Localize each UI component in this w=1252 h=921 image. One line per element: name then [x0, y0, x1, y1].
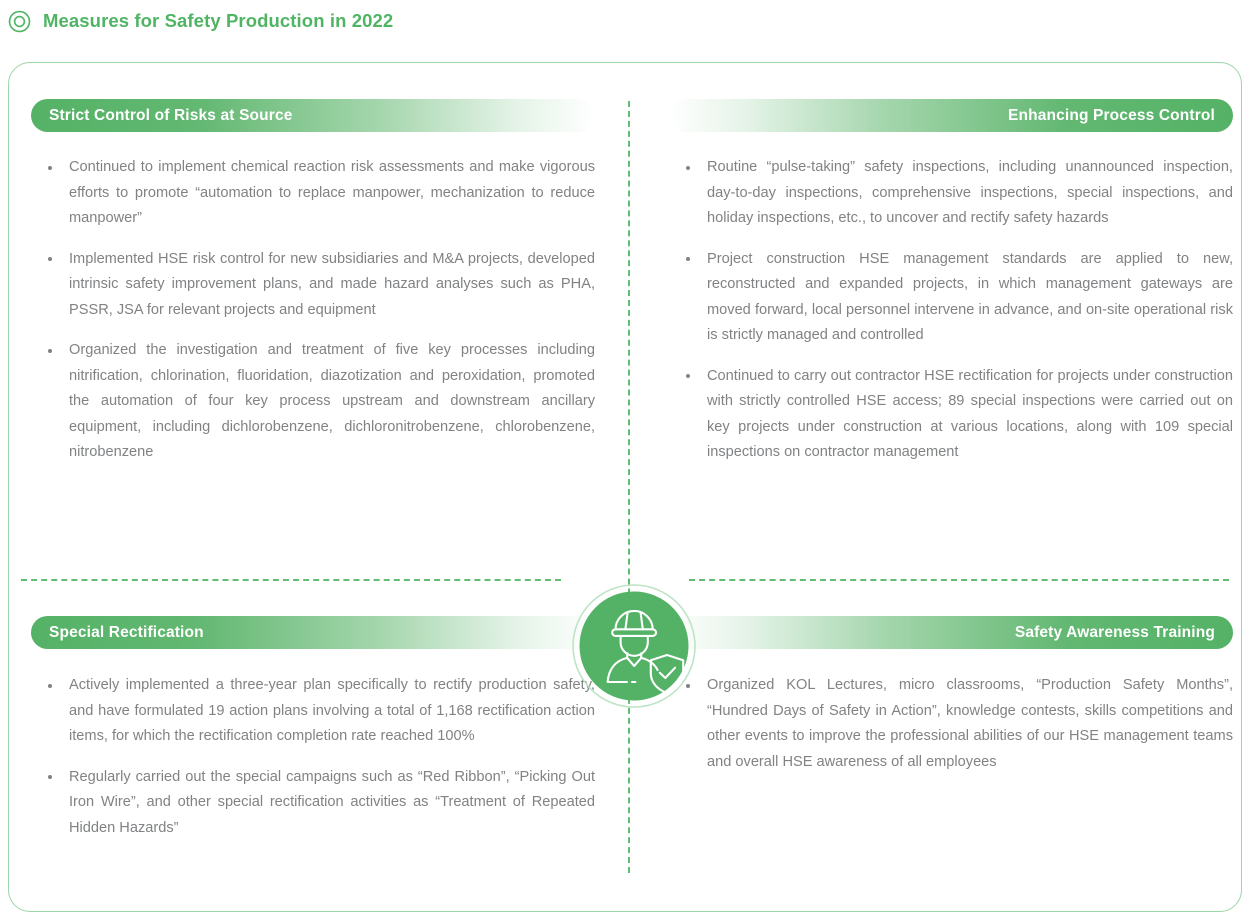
quadrant-heading-label: Strict Control of Risks at Source	[49, 107, 293, 125]
quadrant-safety-awareness-training: Safety Awareness Training Organized KOL …	[669, 616, 1233, 775]
quadrant-special-rectification: Special Rectification Actively implement…	[31, 616, 595, 841]
horizontal-divider-left	[21, 579, 561, 581]
bullet-list: Routine “pulse-taking” safety inspection…	[669, 155, 1233, 466]
target-ring-icon	[8, 10, 31, 33]
list-item: Routine “pulse-taking” safety inspection…	[669, 155, 1233, 232]
list-item: Regularly carried out the special campai…	[31, 765, 595, 842]
list-item: Continued to implement chemical reaction…	[31, 155, 595, 232]
quadrant-heading-pill: Special Rectification	[31, 616, 595, 649]
list-item: Organized KOL Lectures, micro classrooms…	[669, 673, 1233, 775]
quadrant-heading-pill: Enhancing Process Control	[669, 99, 1233, 132]
bullet-list: Organized KOL Lectures, micro classrooms…	[669, 673, 1233, 775]
vertical-divider	[628, 101, 630, 873]
list-item: Continued to carry out contractor HSE re…	[669, 364, 1233, 466]
horizontal-divider-right	[689, 579, 1229, 581]
list-item: Implemented HSE risk control for new sub…	[31, 247, 595, 324]
bullet-list: Continued to implement chemical reaction…	[31, 155, 595, 466]
quadrant-heading-pill: Safety Awareness Training	[669, 616, 1233, 649]
quadrant-strict-control-of-risks-at-source: Strict Control of Risks at Source Contin…	[31, 99, 595, 466]
quadrant-heading-label: Safety Awareness Training	[1015, 624, 1215, 642]
quadrant-enhancing-process-control: Enhancing Process Control Routine “pulse…	[669, 99, 1233, 466]
bullet-list: Actively implemented a three-year plan s…	[31, 673, 595, 841]
page-title: Measures for Safety Production in 2022	[43, 10, 393, 32]
measures-card: Strict Control of Risks at Source Contin…	[8, 62, 1242, 912]
quadrant-heading-label: Special Rectification	[49, 624, 204, 642]
list-item: Actively implemented a three-year plan s…	[31, 673, 595, 750]
quadrant-heading-pill: Strict Control of Risks at Source	[31, 99, 595, 132]
list-item: Project construction HSE management stan…	[669, 247, 1233, 349]
quadrant-heading-label: Enhancing Process Control	[1008, 107, 1215, 125]
list-item: Organized the investigation and treatmen…	[31, 338, 595, 466]
page-header: Measures for Safety Production in 2022	[8, 6, 393, 36]
safety-worker-shield-icon	[572, 584, 696, 708]
